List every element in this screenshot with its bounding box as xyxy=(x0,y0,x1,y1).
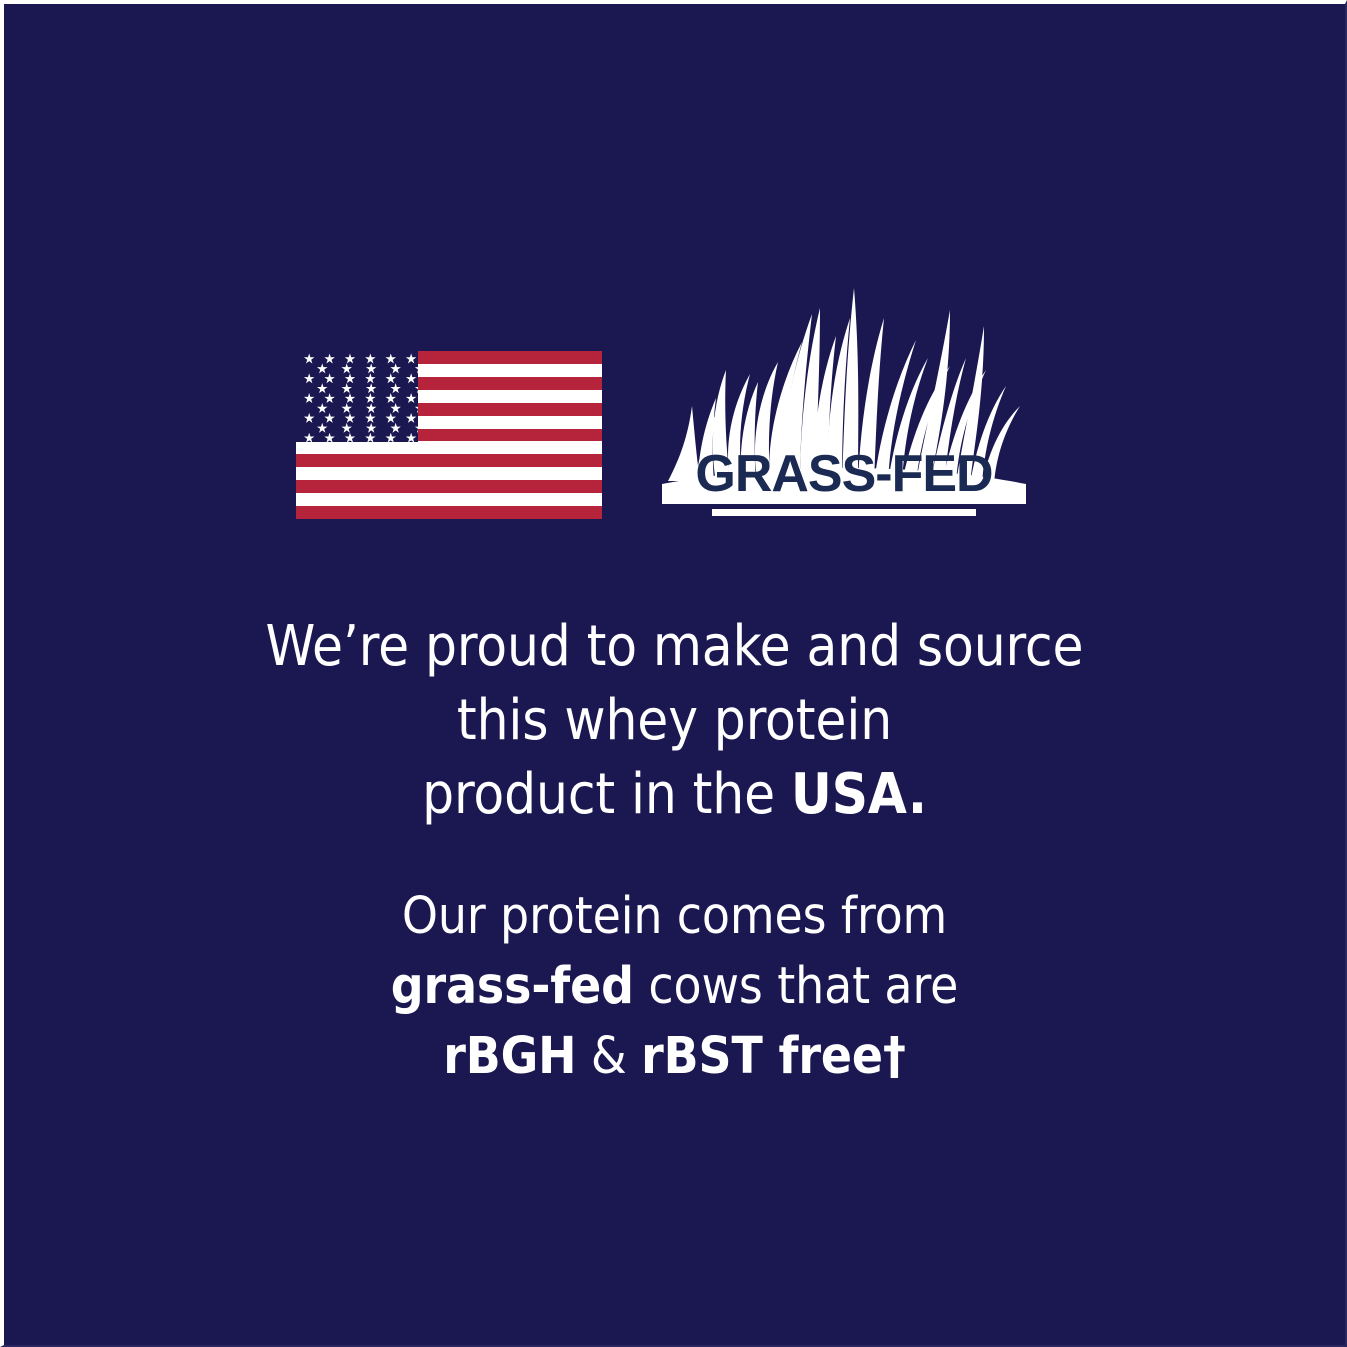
flag-stripe xyxy=(296,493,602,506)
grass-fed-badge-icon: GRASS-FED xyxy=(654,266,1034,526)
flag-star-icon xyxy=(406,433,417,442)
flag-star-icon xyxy=(324,433,335,442)
badges-row: GRASS-FED xyxy=(4,266,1345,526)
grassfed-paragraph: Our protein comes from grass-fed cows th… xyxy=(235,882,1115,1092)
usa-paragraph: We’re proud to make and source this whey… xyxy=(235,610,1115,832)
ampersand: & xyxy=(576,1027,641,1086)
flag-star-icon xyxy=(344,433,355,442)
usa-emphasis: USA. xyxy=(791,762,927,827)
usa-line-3-prefix: product in the xyxy=(422,762,791,827)
flag-star-icon xyxy=(304,433,315,442)
flag-canton xyxy=(296,351,418,442)
grassfed-line-2-rest: cows that are xyxy=(634,957,958,1016)
grass-fed-label: GRASS-FED xyxy=(654,448,1034,500)
usa-line-1: We’re proud to make and source xyxy=(235,610,1115,684)
grassfed-emphasis: grass-fed xyxy=(391,957,634,1016)
rbst-free-emphasis: rBST free† xyxy=(641,1027,906,1086)
flag-stripe xyxy=(296,480,602,493)
us-flag-icon xyxy=(296,351,602,519)
usa-line-3: product in the USA. xyxy=(235,758,1115,832)
grassfed-line-2: grass-fed cows that are xyxy=(235,952,1115,1022)
flag-star-icon xyxy=(385,433,396,442)
flag-stripe xyxy=(296,506,602,519)
product-info-panel: GRASS-FED We’re proud to make and source… xyxy=(0,0,1347,1347)
flag-star-row xyxy=(296,432,418,442)
rbgh-emphasis: rBGH xyxy=(443,1027,576,1086)
usa-line-2: this whey protein xyxy=(235,684,1115,758)
copy-block: We’re proud to make and source this whey… xyxy=(4,610,1345,1092)
flag-stripe xyxy=(296,467,602,480)
flag-stripe xyxy=(296,454,602,467)
grassfed-line-3: rBGH & rBST free† xyxy=(235,1022,1115,1092)
flag-stripe xyxy=(296,441,602,454)
flag-star-icon xyxy=(365,433,376,442)
grassfed-line-1: Our protein comes from xyxy=(235,882,1115,952)
